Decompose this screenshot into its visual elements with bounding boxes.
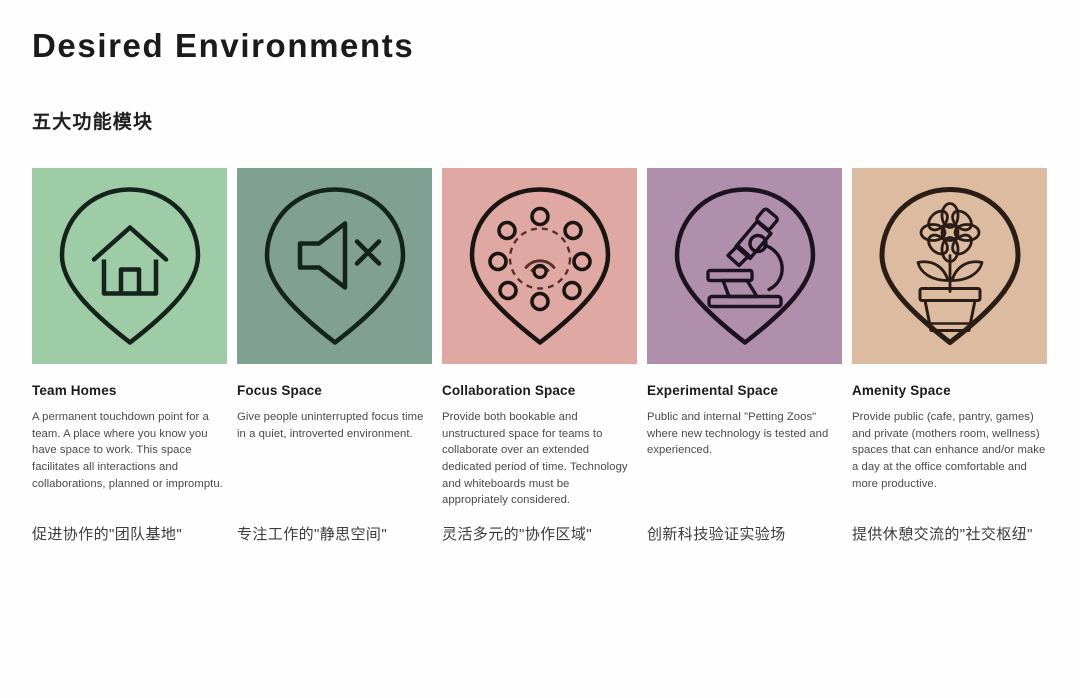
environment-card-collaboration-space[interactable]: Collaboration Space Provide both bookabl… [442,168,637,509]
card-title: Amenity Space [852,383,1047,399]
environment-card-focus-space[interactable]: Focus Space Give people uninterrupted fo… [237,168,432,509]
slide-canvas: Desired Environments 五大功能模块 Team Homes A… [0,0,1080,698]
card-caption-chinese-experimental-space: 创新科技验证实验场 [647,525,786,545]
environment-card-amenity-space[interactable]: Amenity Space Provide public (cafe, pant… [852,168,1047,509]
page-title: Desired Environments [32,28,414,64]
icon-tile-focus-space [237,168,432,364]
page-subtitle-chinese: 五大功能模块 [32,107,153,134]
icon-tile-experimental-space [647,168,842,364]
card-title: Experimental Space [647,383,842,399]
card-description: Public and internal "Petting Zoos" where… [647,409,842,459]
card-description: A permanent touchdown point for a team. … [32,409,227,492]
card-caption-chinese-collaboration-space: 灵活多元的"协作区域" [442,525,592,545]
card-description: Provide public (cafe, pantry, games) and… [852,409,1047,492]
card-description: Provide both bookable and unstructured s… [442,409,637,509]
network-nodes-pin-icon [460,184,620,349]
card-caption-chinese-focus-space: 专注工作的"静思空间" [237,525,387,545]
icon-tile-collaboration-space [442,168,637,364]
card-title: Team Homes [32,383,227,399]
card-title: Collaboration Space [442,383,637,399]
environment-card-experimental-space[interactable]: Experimental Space Public and internal "… [647,168,842,509]
card-title: Focus Space [237,383,432,399]
icon-tile-amenity-space [852,168,1047,364]
potted-flower-pin-icon [870,184,1030,349]
home-pin-icon [50,184,210,349]
environment-card-list: Team Homes A permanent touchdown point f… [32,168,1048,509]
mute-speaker-pin-icon [255,184,415,349]
environment-card-team-homes[interactable]: Team Homes A permanent touchdown point f… [32,168,227,509]
card-caption-chinese-amenity-space: 提供休憩交流的"社交枢纽" [852,525,1033,545]
card-description: Give people uninterrupted focus time in … [237,409,432,442]
microscope-pin-icon [665,184,825,349]
icon-tile-team-homes [32,168,227,364]
card-caption-chinese-team-homes: 促进协作的"团队基地" [32,525,182,545]
